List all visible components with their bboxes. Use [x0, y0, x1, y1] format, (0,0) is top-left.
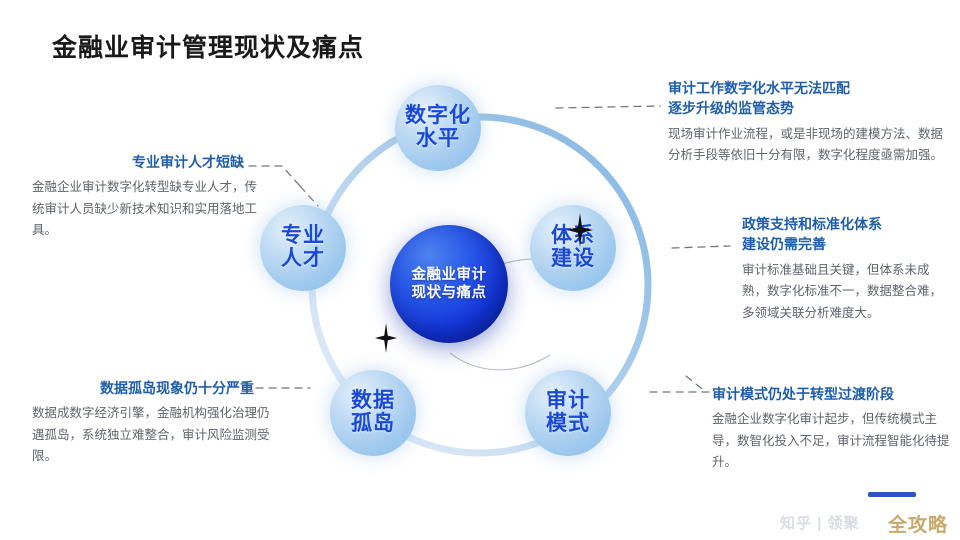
slide-canvas: 金融业审计管理现状及痛点 — [0, 0, 960, 540]
callout-digital-level-heading1: 审计工作数字化水平无法匹配 — [668, 78, 948, 98]
node-talent-line2: 人才 — [281, 248, 325, 271]
node-data-island-line2: 孤岛 — [351, 413, 395, 436]
node-audit-mode-line2: 模式 — [546, 413, 590, 436]
node-digital-level[interactable]: 数字化 水平 — [395, 85, 481, 171]
node-system-build[interactable]: 体系 建设 — [530, 205, 616, 291]
node-digital-level-line2: 水平 — [405, 128, 471, 151]
node-audit-mode[interactable]: 审计 模式 — [525, 370, 611, 456]
callout-talent-body: 金融企业审计数字化转型缺专业人才，传统审计人员缺少新技术知识和实用落地工具。 — [32, 177, 264, 242]
ring-diagram: 数字化 水平 专业 人才 体系 建设 数据 孤岛 审计 — [245, 85, 715, 495]
watermark-brand-text: 全攻略 — [888, 510, 948, 537]
callout-system-build: 政策支持和标准化体系 建设仍需完善 审计标准基础且关键，但体系未成熟，数字化标准… — [742, 214, 954, 324]
center-node-line2: 现状与痛点 — [412, 284, 487, 302]
node-data-island-line1: 数据 — [351, 390, 395, 413]
page-title: 金融业审计管理现状及痛点 — [52, 28, 364, 64]
center-node[interactable]: 金融业审计 现状与痛点 — [390, 225, 508, 343]
callout-data-island-heading1: 数据孤岛现象仍十分严重 — [32, 378, 254, 398]
watermark-source-text: 知乎 | 领聚 — [780, 512, 860, 533]
callout-audit-mode: 审计模式仍处于转型过渡阶段 金融企业数字化审计起步，但传统模式主导，数智化投入不… — [712, 384, 952, 474]
callout-talent-heading1: 专业审计人才短缺 — [32, 152, 244, 172]
callout-data-island-body: 数据成数字经济引擎，金融机构强化治理仍遇孤岛，系统独立难整合，审计风险监测受限。 — [32, 403, 270, 468]
callout-digital-level-body: 现场审计作业流程，或是非现场的建模方法、数据分析手段等依旧十分有限，数字化程度亟… — [668, 124, 948, 167]
callout-digital-level: 审计工作数字化水平无法匹配 逐步升级的监管态势 现场审计作业流程，或是非现场的建… — [668, 78, 948, 167]
callout-system-build-heading1: 政策支持和标准化体系 — [742, 214, 954, 234]
callout-data-island: 数据孤岛现象仍十分严重 数据成数字经济引擎，金融机构强化治理仍遇孤岛，系统独立难… — [32, 378, 270, 468]
node-digital-level-line1: 数字化 — [405, 105, 471, 128]
callout-audit-mode-body: 金融企业数字化审计起步，但传统模式主导，数智化投入不足，审计流程智能化待提升。 — [712, 409, 952, 474]
node-data-island[interactable]: 数据 孤岛 — [330, 370, 416, 456]
callout-audit-mode-heading1: 审计模式仍处于转型过渡阶段 — [712, 384, 952, 404]
center-node-line1: 金融业审计 — [412, 266, 487, 284]
callout-system-build-heading2: 建设仍需完善 — [742, 234, 954, 254]
node-audit-mode-line1: 审计 — [546, 390, 590, 413]
callout-system-build-body: 审计标准基础且关键，但体系未成熟，数字化标准不一，数据整合难，多领域关联分析难度… — [742, 260, 954, 325]
node-system-build-line2: 建设 — [551, 248, 595, 271]
callout-digital-level-heading2: 逐步升级的监管态势 — [668, 98, 948, 118]
node-talent[interactable]: 专业 人才 — [260, 205, 346, 291]
node-talent-line1: 专业 — [281, 225, 325, 248]
callout-talent: 专业审计人才短缺 金融企业审计数字化转型缺专业人才，传统审计人员缺少新技术知识和… — [32, 152, 264, 242]
watermark-bar — [868, 492, 916, 497]
